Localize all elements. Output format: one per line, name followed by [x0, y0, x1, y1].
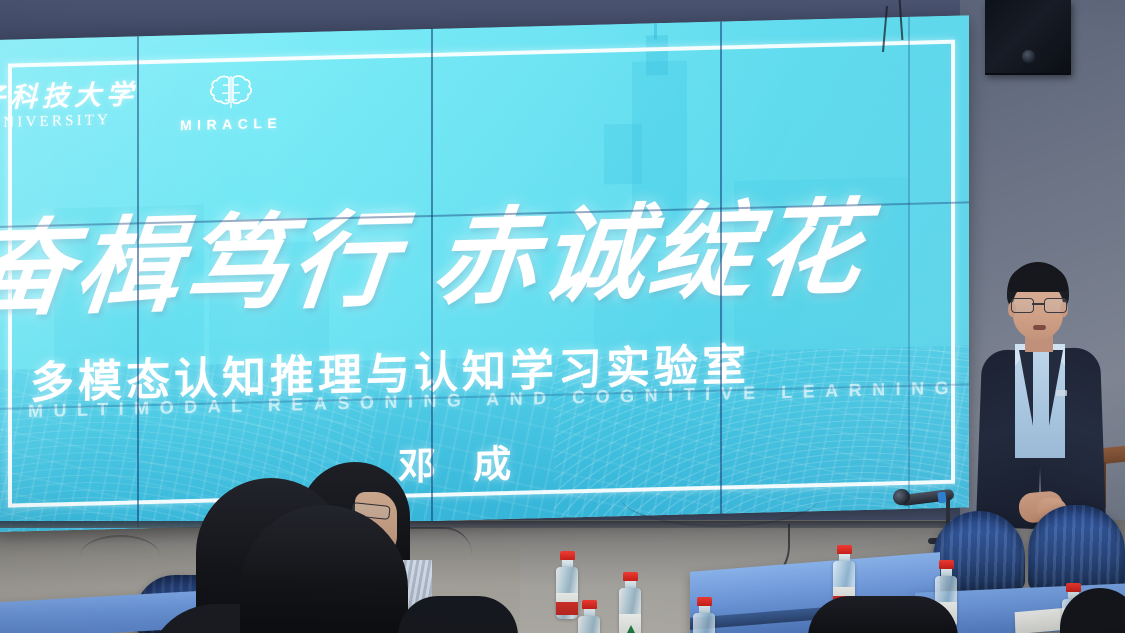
brain-icon [205, 71, 257, 112]
presenter-hair-front [1008, 266, 1068, 292]
leaf-icon [627, 625, 635, 633]
glasses-icon [1011, 298, 1065, 312]
microphone-ring [937, 492, 946, 504]
bottle-body [619, 588, 641, 633]
university-name-en: IAN UNIVERSITY [0, 112, 111, 133]
wall-speaker [985, 0, 1071, 75]
university-logo: 电子科技大学 IAN UNIVERSITY [0, 80, 138, 133]
bottle-label [556, 593, 578, 615]
presentation-room-scene: 电子科技大学 IAN UNIVERSITY MIRACLE 奋楫笃行赤诚绽花 多… [0, 0, 1125, 633]
presenter-badge [1056, 390, 1067, 396]
water-bottle[interactable] [693, 597, 715, 633]
screen-baseboard [0, 521, 960, 528]
bottle-cap [582, 600, 597, 609]
speaker-cone-icon [1022, 50, 1035, 63]
bottle-cap [697, 597, 712, 606]
miracle-lab-logo: MIRACLE [180, 71, 282, 134]
calligraphy-spacer [396, 295, 430, 296]
bottle-body [693, 613, 715, 633]
floor-cable [80, 535, 160, 577]
bottle-neck [839, 554, 850, 561]
water-bottle[interactable] [578, 600, 600, 633]
conference-chair[interactable] [1028, 505, 1125, 591]
bottle-cap [623, 572, 638, 581]
led-panel-seam [908, 17, 910, 509]
bottle-body [578, 616, 600, 633]
led-video-wall[interactable]: 电子科技大学 IAN UNIVERSITY MIRACLE 奋楫笃行赤诚绽花 多… [0, 15, 969, 532]
miracle-label: MIRACLE [180, 115, 282, 134]
bottle-cap [939, 560, 954, 569]
bottle-neck [625, 581, 636, 588]
slide-speaker-name: 邓 成 [398, 433, 523, 491]
bottle-neck [699, 606, 710, 613]
bottle-cap [837, 545, 852, 554]
bottle-neck [941, 569, 952, 576]
presenter-lapel-left [1019, 350, 1033, 426]
bottle-neck [562, 560, 573, 567]
slide-logo-row: 电子科技大学 IAN UNIVERSITY MIRACLE [0, 71, 282, 140]
led-panel-seam [720, 22, 722, 514]
water-bottle[interactable] [619, 572, 641, 633]
university-name-cn: 电子科技大学 [0, 80, 138, 113]
led-panel-seam [137, 36, 139, 528]
audience-member [808, 596, 958, 633]
presenter-mouth [1033, 325, 1046, 330]
bottle-cap [560, 551, 575, 560]
water-bottle[interactable] [556, 551, 578, 619]
bottle-neck [584, 609, 595, 616]
bottle-cap [1066, 583, 1081, 592]
presenter-lapel-right [1049, 350, 1063, 426]
led-panel-seam [431, 29, 433, 521]
floor-cable [620, 465, 820, 527]
bottle-body [556, 567, 578, 619]
